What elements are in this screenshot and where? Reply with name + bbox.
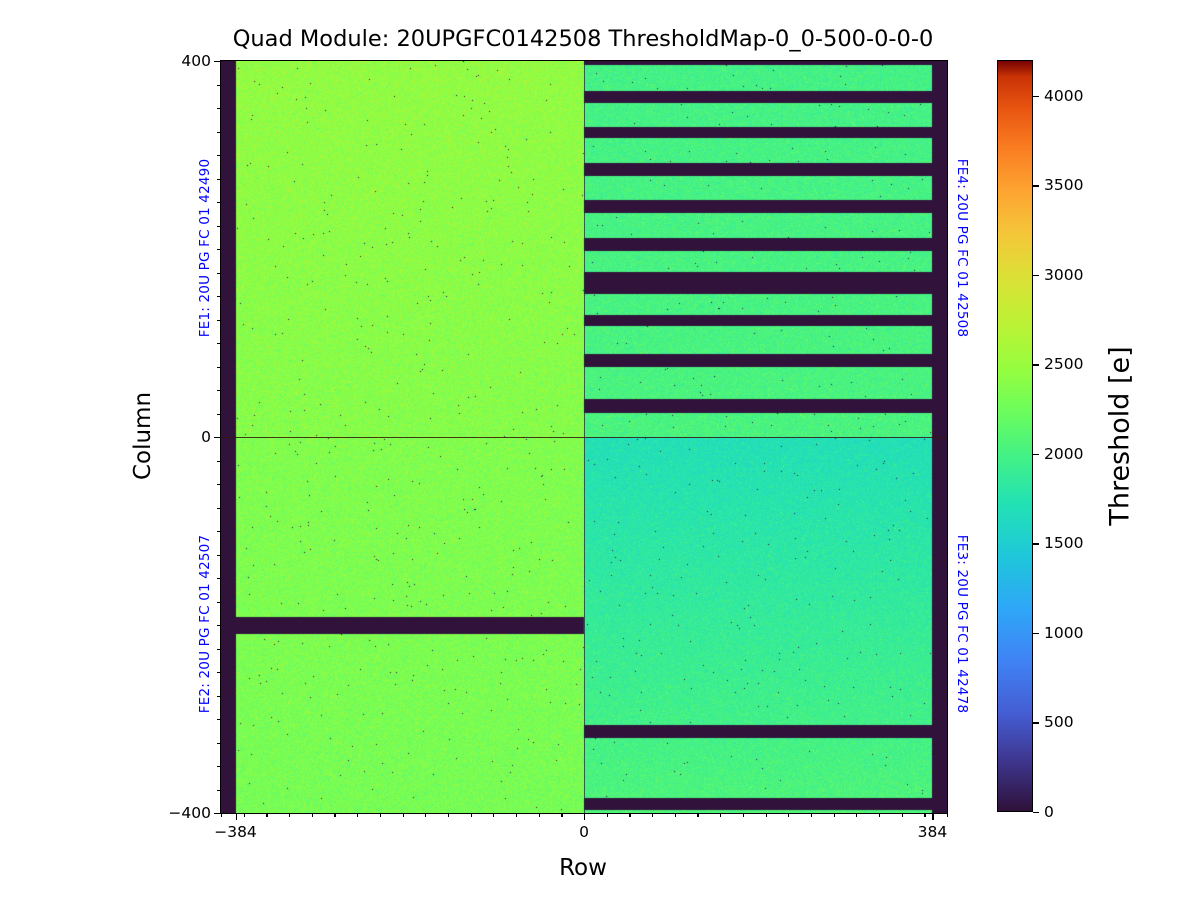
colorbar-tick-label: 1500: [1044, 534, 1083, 552]
y-tick-minor: [217, 766, 221, 767]
colorbar-tick: [1033, 543, 1039, 544]
y-tick-minor: [217, 555, 221, 556]
x-tick-label: 384: [918, 823, 948, 841]
x-tick-minor: [697, 813, 698, 817]
y-tick-minor: [217, 719, 221, 720]
x-tick-label: −384: [214, 823, 257, 841]
x-tick-minor: [334, 813, 335, 817]
colorbar-tick: [1033, 185, 1039, 186]
x-tick-label: 0: [579, 823, 589, 841]
y-tick: [214, 437, 221, 438]
y-tick-minor: [217, 649, 221, 650]
page-title: Quad Module: 20UPGFC0142508 ThresholdMap…: [220, 26, 946, 52]
y-tick-minor: [217, 179, 221, 180]
figure-canvas: Quad Module: 20UPGFC0142508 ThresholdMap…: [0, 0, 1200, 900]
colorbar-tick-label: 4000: [1044, 87, 1083, 105]
y-tick-minor: [217, 790, 221, 791]
y-tick-minor: [217, 273, 221, 274]
x-tick-minor: [856, 813, 857, 817]
x-tick-minor: [516, 813, 517, 817]
heatmap-axes: −4000400−3840384: [220, 60, 948, 814]
x-tick-minor: [788, 813, 789, 817]
x-axis-label: Row: [559, 855, 607, 881]
y-tick-minor: [217, 367, 221, 368]
y-tick-minor: [217, 226, 221, 227]
y-tick-label: −400: [168, 804, 211, 822]
colorbar-tick: [1033, 364, 1039, 365]
y-tick-minor: [217, 390, 221, 391]
colorbar-tick: [1033, 96, 1039, 97]
x-tick-minor: [720, 813, 721, 817]
x-tick: [932, 813, 933, 820]
x-tick-minor: [539, 813, 540, 817]
y-tick-minor: [217, 672, 221, 673]
x-tick-minor: [448, 813, 449, 817]
x-tick-minor: [357, 813, 358, 817]
y-tick-minor: [217, 578, 221, 579]
y-tick-minor: [217, 155, 221, 156]
fe-label-fe4: FE4: 20U PG FC 01 42508: [954, 159, 970, 337]
fe-label-fe2: FE2: 20U PG FC 01 42507: [197, 535, 213, 713]
x-tick-minor: [561, 813, 562, 817]
x-tick-minor: [244, 813, 245, 817]
colorbar-gradient: [997, 60, 1033, 812]
y-tick-minor: [217, 625, 221, 626]
x-tick-minor: [266, 813, 267, 817]
colorbar-tick-label: 500: [1044, 713, 1074, 731]
colorbar-tick-label: 3000: [1044, 266, 1083, 284]
x-tick-minor: [743, 813, 744, 817]
colorbar-tick: [1033, 722, 1039, 723]
fe-label-fe1: FE1: 20U PG FC 01 42490: [197, 159, 213, 337]
colorbar-tick: [1033, 633, 1039, 634]
x-tick-minor: [493, 813, 494, 817]
x-tick-minor: [924, 813, 925, 817]
x-tick-minor: [811, 813, 812, 817]
fe-label-fe3: FE3: 20U PG FC 01 42478: [954, 535, 970, 713]
y-tick-minor: [217, 108, 221, 109]
y-tick-minor: [217, 461, 221, 462]
colorbar-tick-label: 0: [1044, 803, 1054, 821]
y-tick-minor: [217, 602, 221, 603]
x-tick: [236, 813, 237, 820]
colorbar-tick: [1033, 275, 1039, 276]
x-tick-minor: [902, 813, 903, 817]
y-axis-label: Column: [130, 392, 156, 480]
y-tick-minor: [217, 484, 221, 485]
x-tick-minor: [629, 813, 630, 817]
y-tick-minor: [217, 531, 221, 532]
y-tick-label: 400: [181, 52, 211, 70]
y-tick-minor: [217, 743, 221, 744]
colorbar-tick: [1033, 812, 1039, 813]
colorbar-tick: [1033, 454, 1039, 455]
x-tick-minor: [425, 813, 426, 817]
y-tick-minor: [217, 343, 221, 344]
y-tick-minor: [217, 85, 221, 86]
x-tick-minor: [403, 813, 404, 817]
x-tick-minor: [766, 813, 767, 817]
x-tick-minor: [834, 813, 835, 817]
x-tick-minor: [675, 813, 676, 817]
y-tick-minor: [217, 320, 221, 321]
y-tick: [214, 813, 221, 814]
threshold-heatmap: [221, 61, 947, 813]
x-tick-minor: [221, 813, 222, 817]
x-tick: [584, 813, 585, 820]
y-tick-minor: [217, 296, 221, 297]
y-tick-minor: [217, 249, 221, 250]
y-tick-minor: [217, 202, 221, 203]
y-tick-minor: [217, 414, 221, 415]
y-tick-label: 0: [201, 428, 211, 446]
y-tick-minor: [217, 508, 221, 509]
x-tick-minor: [289, 813, 290, 817]
y-tick-minor: [217, 132, 221, 133]
colorbar-label: Threshold [e]: [1105, 346, 1136, 525]
x-tick-minor: [607, 813, 608, 817]
colorbar-tick-label: 2500: [1044, 355, 1083, 373]
colorbar-tick-label: 1000: [1044, 624, 1083, 642]
x-tick-minor: [312, 813, 313, 817]
x-tick-minor: [471, 813, 472, 817]
colorbar-tick-label: 3500: [1044, 176, 1083, 194]
colorbar: 05001000150020002500300035004000: [997, 60, 1033, 812]
colorbar-tick-label: 2000: [1044, 445, 1083, 463]
x-tick-minor: [652, 813, 653, 817]
x-tick-minor: [947, 813, 948, 817]
x-tick-minor: [879, 813, 880, 817]
y-tick-minor: [217, 696, 221, 697]
y-tick: [214, 61, 221, 62]
x-tick-minor: [380, 813, 381, 817]
